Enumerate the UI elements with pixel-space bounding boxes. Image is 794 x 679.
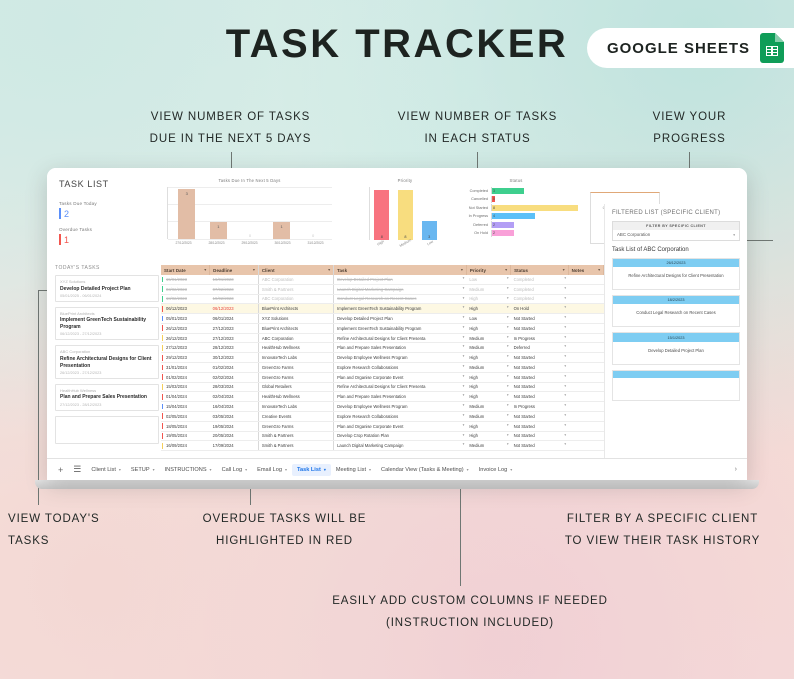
filtered-card-date: 18/2/2023 [613,296,739,304]
cell-client[interactable]: InnovateTech Labs [258,353,333,363]
callout-overdue: OVERDUE TASKS WILL BE HIGHLIGHTED IN RED [172,508,397,553]
cell-task[interactable]: Develop Crop Rotation Plan [334,431,467,441]
filtered-list-subtitle: Task List of ABC Corporation [612,247,740,253]
task-card-title: Plan and Prepare Sales Presentation [60,394,154,401]
bar: 2 [492,222,514,228]
filter-icon[interactable]: ▼ [252,268,256,272]
cell-status[interactable]: Completed [511,294,569,304]
todays-task-card[interactable]: ABC CorporationRefine Architectural Desi… [55,345,159,379]
chart-plot-area: 31010 [167,187,332,239]
filtered-task-card[interactable]: 15/1/2023Develop Detailed Project Plan [612,332,740,364]
table-header-row: Start Date▼Deadline▼Client▼Task▼Priority… [161,265,604,275]
cell-start-date[interactable]: 15/01/2023 [161,275,210,284]
cell-client[interactable]: XYZ Solutions [258,314,333,324]
table-col-status[interactable]: Status▼ [511,265,569,275]
cell-status[interactable]: Completed [511,275,569,284]
bar: 1 [273,222,290,239]
cell-start-date[interactable]: 19/05/2024 [161,431,210,441]
filtered-card-date: 26/12/2023 [613,259,739,267]
bar-value: 0 [305,233,322,238]
bar: 3 [492,188,524,194]
task-card-client: XYZ Solutions [60,279,154,284]
filtered-card-task: Conduct Legal Research on Recent Cases [613,304,739,326]
y-tick-label: Not Started [451,206,491,210]
cell-priority[interactable]: Medium [466,402,510,412]
todays-task-card-empty [55,416,159,444]
task-card-client: ABC Corporation [60,349,154,354]
cell-priority[interactable]: Medium [466,333,510,343]
cell-deadline[interactable]: 20/05/2024 [210,431,259,441]
cell-status[interactable]: Not Started [511,382,569,392]
cell-deadline[interactable]: 06/01/2024 [210,314,259,324]
cell-notes[interactable] [568,402,603,412]
spreadsheet-canvas: TASK LIST Tasks Due Today 2 Overdue Task… [47,168,747,458]
x-tick-label: 30/12/2023 [275,241,291,245]
task-card-dates: 06/12/2023 - 27/12/2023 [60,332,154,336]
bar-value: 3 [493,188,495,194]
cell-client[interactable]: HealthHub Wellness [258,392,333,402]
filtered-list-panel: FILTERED LIST (SPECIFIC CLIENT) FILTER B… [604,204,747,458]
todays-task-card[interactable]: XYZ SolutionsDevelop Detailed Project Pl… [55,275,159,302]
cell-status[interactable]: Completed [511,284,569,294]
cell-deadline[interactable]: 30/12/2023 [210,353,259,363]
cell-status[interactable]: In Progress [511,333,569,343]
table-row[interactable]: 18/02/202319/02/2023ABC CorporationCondu… [161,294,604,304]
sheet-tab-client-list[interactable]: Client List [86,464,126,476]
table-row[interactable]: 03/02/202307/02/2023Smith & PartnersLaun… [161,284,604,294]
cell-client[interactable]: ABC Corporation [258,333,333,343]
cell-priority[interactable]: High [466,294,510,304]
cell-notes[interactable] [568,372,603,382]
cell-deadline[interactable]: 01/02/2024 [210,363,259,373]
bar-value: 4 [493,213,495,219]
x-tick-label: High [376,239,384,246]
cell-notes[interactable] [568,363,603,373]
cell-deadline[interactable]: 27/12/2023 [210,333,259,343]
leader-line [38,290,39,505]
status-bar-row: In Progress4 [451,213,581,220]
cell-start-date[interactable]: 16/09/2024 [161,441,210,451]
col-label: Task [337,268,347,273]
sheet-tab-instructions[interactable]: INSTRUCTIONS [160,464,217,476]
cell-client[interactable]: ABC Corporation [258,294,333,304]
kpi-color-bar [59,208,61,219]
cell-task[interactable]: Plan and Organise Corporate Event [334,421,467,431]
bar: 2 [492,230,514,236]
filtered-card-date [613,371,739,378]
cell-start-date[interactable]: 26/12/2023 [161,323,210,333]
filtered-card-task: Develop Detailed Project Plan [613,342,739,364]
cell-start-date[interactable]: 29/12/2023 [161,353,210,363]
cell-start-date[interactable]: 26/12/2023 [161,333,210,343]
bar-value: 8 [374,235,389,239]
cell-start-date[interactable]: 03/02/2023 [161,284,210,294]
cell-notes[interactable] [568,275,603,284]
callout-todays-tasks: VIEW TODAY'S TASKS [8,508,158,553]
cell-status[interactable]: Not Started [511,314,569,324]
cell-start-date[interactable]: 01/02/2024 [161,372,210,382]
cell-start-date[interactable]: 15/04/2024 [161,402,210,412]
filtered-task-card[interactable]: 18/2/2023Conduct Legal Research on Recen… [612,295,740,327]
cell-task[interactable]: Develop Employee Wellness Program [334,402,467,412]
table-row[interactable]: 15/01/202316/01/2023ABC CorporationDevel… [161,275,604,284]
bar: 3 [178,189,195,239]
bar: 1 [210,222,227,239]
todays-task-card[interactable]: HealthHub WellnessPlan and Prepare Sales… [55,384,159,411]
filtered-list-title: FILTERED LIST (SPECIFIC CLIENT) [612,210,740,216]
cell-deadline[interactable]: 28/03/2024 [210,382,259,392]
cell-priority[interactable]: Medium [466,284,510,294]
cell-notes[interactable] [568,392,603,402]
sheet-tab-meeting-list[interactable]: Meeting List [331,464,376,476]
filtered-card-task [613,378,739,400]
plus-icon[interactable]: + [53,465,68,475]
cell-task[interactable]: Launch Digital Marketing Campaign [334,441,467,451]
cell-task[interactable]: Launch Digital Marketing Campaign [334,284,467,294]
cell-notes[interactable] [568,323,603,333]
table-col-priority[interactable]: Priority▼ [466,265,510,275]
x-tick-label: 29/12/2023 [242,241,258,245]
filter-icon[interactable]: ▼ [204,268,208,272]
cell-start-date[interactable]: 05/01/2023 [161,314,210,324]
bar-value: 8 [493,205,495,211]
google-sheets-badge: GOOGLE SHEETS [587,28,794,68]
col-label: Priority [470,268,486,273]
cell-priority[interactable]: Medium [466,343,510,353]
sheet-tab-task-list[interactable]: Task List [292,464,331,476]
status-bar-row: On Hold2 [451,230,581,237]
sheet-tab-call-log[interactable]: Call Log [217,464,253,476]
cell-start-date[interactable]: 06/12/2023 [161,304,210,314]
callout-tasks-status: VIEW NUMBER OF TASKS IN EACH STATUS [365,106,590,151]
cell-status[interactable]: Not Started [511,372,569,382]
google-sheets-label: GOOGLE SHEETS [607,40,750,57]
table-row[interactable]: 27/12/202328/12/2023HealthHub WellnessPl… [161,343,604,353]
y-tick-label: Completed [451,189,491,193]
bar-value: 3 [178,191,195,196]
col-label: Notes [572,268,585,273]
table-row[interactable]: 05/01/202306/01/2024XYZ SolutionsDevelop… [161,314,604,324]
table-row[interactable]: 16/09/202417/09/2024Smith & PartnersLaun… [161,441,604,451]
cell-priority[interactable]: Low [466,314,510,324]
chart-bars: 31010 [171,187,329,239]
bar-value: 0 [493,196,495,202]
chart-tasks-due: Tasks Due In The Next 5 Days 31010 27/12… [167,178,332,253]
kpi-label: Overdue Tasks [59,227,92,232]
kpi-color-bar [59,234,61,245]
cell-notes[interactable] [568,314,603,324]
cell-task[interactable]: Plan and Prepare Sales Presentation [334,343,467,353]
cell-task[interactable]: Conduct Legal Research on Recent Cases [334,294,467,304]
cell-notes[interactable] [568,294,603,304]
todays-task-card[interactable]: BluePrint ArchitectsImplement GreenTech … [55,307,159,341]
cell-task[interactable]: Develop Detailed Project Plan [334,275,467,284]
cell-task[interactable]: Plan and Organise Corporate Event [334,372,467,382]
cell-start-date[interactable]: 18/05/2024 [161,421,210,431]
callout-custom-columns: EASILY ADD CUSTOM COLUMNS IF NEEDED (INS… [265,590,675,635]
cell-priority[interactable]: High [466,323,510,333]
cell-priority[interactable]: High [466,382,510,392]
filtered-card-task: Refine Architectural Designs for Client … [613,267,739,289]
filter-icon[interactable]: ▼ [597,268,601,272]
table-col-client[interactable]: Client▼ [258,265,333,275]
client-filter-control[interactable]: FILTER BY SPECIFIC CLIENT ABC Corporatio… [612,221,740,241]
cell-status[interactable]: Deferred [511,343,569,353]
filter-icon[interactable]: ▼ [562,268,566,272]
cell-deadline[interactable]: 16/01/2023 [210,275,259,284]
table-row[interactable]: 31/01/202401/02/2024GreenGro FarmsExplor… [161,363,604,373]
cell-status[interactable]: Not Started [511,411,569,421]
cell-task[interactable]: Implement GreenTech Sustainability Progr… [334,323,467,333]
table-col-start-date[interactable]: Start Date▼ [161,265,210,275]
cell-priority[interactable]: High [466,304,510,314]
task-table[interactable]: Start Date▼Deadline▼Client▼Task▼Priority… [161,265,604,458]
cell-status[interactable]: Not Started [511,392,569,402]
cell-notes[interactable] [568,343,603,353]
cell-notes[interactable] [568,333,603,343]
cell-task[interactable]: Develop Detailed Project Plan [334,314,467,324]
google-sheets-icon [760,33,784,63]
table-row[interactable]: 02/05/202403/05/2024Creative EventsExplo… [161,411,604,421]
kpi-tasks-due-today: Tasks Due Today 2 [59,201,97,219]
y-tick-label: Cancelled [451,197,491,201]
cell-status[interactable]: Not Started [511,431,569,441]
cell-client[interactable]: BluePrint Architects [258,323,333,333]
cell-deadline[interactable]: 19/02/2023 [210,294,259,304]
cell-start-date[interactable]: 15/03/2024 [161,382,210,392]
x-tick-label: 31/12/2023 [308,241,324,245]
cell-client[interactable]: Global Retailers [258,382,333,392]
cell-task[interactable]: Refine Architectural Designs for Client … [334,333,467,343]
cell-task[interactable]: Implement GreenTech Sustainability Progr… [334,304,467,314]
leader-line [460,483,461,586]
bar-value: 2 [493,230,495,236]
cell-client[interactable]: GreenGro Farms [258,372,333,382]
table-row[interactable]: 29/12/202330/12/2023InnovateTech LabsDev… [161,353,604,363]
cell-deadline[interactable]: 19/05/2024 [210,421,259,431]
table-col-deadline[interactable]: Deadline▼ [210,265,259,275]
kpi-value: 1 [64,235,69,245]
sheet-tab-invoice-log[interactable]: Invoice Log [474,464,518,476]
kpi-value: 2 [64,209,69,219]
x-tick-label: Low [426,240,434,247]
table-row[interactable]: 15/03/202428/03/2024Global RetailersRefi… [161,382,604,392]
cell-priority[interactable]: High [466,421,510,431]
cell-client[interactable]: GreenGro Farms [258,363,333,373]
cell-deadline[interactable]: 03/05/2024 [210,411,259,421]
cell-priority[interactable]: Medium [466,441,510,451]
laptop-base [35,480,759,489]
cell-deadline[interactable]: 28/12/2023 [210,343,259,353]
client-filter-caption: FILTER BY SPECIFIC CLIENT [613,222,739,230]
cell-priority[interactable]: Medium [466,363,510,373]
sheet-tab-calendar-view-tasks-meeting[interactable]: Calendar View (Tasks & Meeting) [376,464,474,476]
table-row[interactable]: 26/12/202327/12/2023BluePrint Architects… [161,323,604,333]
sheet-tab-email-log[interactable]: Email Log [252,464,292,476]
table-col-notes[interactable]: Notes▼ [568,265,603,275]
callout-progress: VIEW YOUR PROGRESS [607,106,772,151]
status-bar-row: Not Started8 [451,204,581,211]
task-card-dates: 26/12/2023 - 27/12/2023 [60,371,154,375]
cell-priority[interactable]: Low [466,275,510,284]
x-tick-label: 28/12/2023 [209,241,225,245]
task-card-dates: 27/12/2023 - 28/12/2023 [60,403,154,407]
client-filter-dropdown[interactable]: ABC Corporation [613,230,739,240]
task-card-title: Implement GreenTech Sustainability Progr… [60,317,154,331]
cell-client[interactable]: Smith & Partners [258,284,333,294]
callout-filter-client: FILTER BY A SPECIFIC CLIENT TO VIEW THEI… [540,508,785,553]
table-row[interactable]: 15/04/202416/04/2024InnovateTech LabsDev… [161,402,604,412]
cell-deadline[interactable]: 07/02/2023 [210,284,259,294]
chart-title: Priority [369,178,441,183]
filtered-card-date: 15/1/2023 [613,333,739,341]
cell-priority[interactable]: High [466,392,510,402]
col-label: Client [262,268,275,273]
cell-notes[interactable] [568,304,603,314]
filtered-task-card[interactable] [612,370,740,401]
cell-status[interactable]: Not Started [511,363,569,373]
chart-status: Status Completed3Cancelled0Not Started8I… [451,178,581,253]
sheet-tab-setup[interactable]: SETUP [126,464,160,476]
cell-start-date[interactable]: 02/05/2024 [161,411,210,421]
table-col-task[interactable]: Task▼ [334,265,467,275]
table-row[interactable]: 18/05/202419/05/2024GreenGro FarmsPlan a… [161,421,604,431]
col-label: Status [514,268,528,273]
table-row[interactable]: 01/02/202402/02/2024GreenGro FarmsPlan a… [161,372,604,382]
cell-status[interactable]: Not Started [511,421,569,431]
chart-x-ticks: HighMediumLow [369,241,441,245]
status-bar-row: Completed3 [451,187,581,194]
chart-priority: Priority 883 HighMediumLow [369,178,441,253]
table-row[interactable]: 06/12/202306/12/2023BluePrint Architects… [161,304,604,314]
bar: 8 [492,205,578,211]
cell-deadline[interactable]: 16/04/2024 [210,402,259,412]
cell-priority[interactable]: Medium [466,411,510,421]
bar-value: 1 [210,224,227,229]
chart-title: Tasks Due In The Next 5 Days [167,178,332,183]
col-label: Deadline [213,268,232,273]
cell-notes[interactable] [568,411,603,421]
cell-status[interactable]: Not Started [511,441,569,451]
cell-deadline[interactable]: 06/12/2023 [210,304,259,314]
col-label: Start Date [164,268,186,273]
screen: TASK LIST Tasks Due Today 2 Overdue Task… [47,168,747,480]
filtered-task-card[interactable]: 26/12/2023Refine Architectural Designs f… [612,258,740,290]
y-tick-label: Deferred [451,223,491,227]
cell-deadline[interactable]: 02/02/2024 [210,372,259,382]
task-card-client: HealthHub Wellness [60,388,154,393]
status-bar-row: Deferred2 [451,221,581,228]
filter-icon[interactable]: ▼ [327,268,331,272]
cell-task[interactable]: Explore Research Collaborations [334,411,467,421]
laptop-mockup: TASK LIST Tasks Due Today 2 Overdue Task… [47,168,747,480]
task-card-dates: 05/01/2025 - 06/01/2024 [60,294,154,298]
cell-client[interactable]: InnovateTech Labs [258,402,333,412]
cell-start-date[interactable]: 27/12/2023 [161,343,210,353]
bar: 4 [492,213,535,219]
callout-tasks-due: VIEW NUMBER OF TASKS DUE IN THE NEXT 5 D… [118,106,343,151]
table-row[interactable]: 19/05/202420/05/2024Smith & PartnersDeve… [161,431,604,441]
todays-tasks-title: TODAY'S TASKS [55,265,159,271]
task-card-client: BluePrint Architects [60,311,154,316]
status-bar-row: Cancelled0 [451,196,581,203]
cell-client[interactable]: GreenGro Farms [258,421,333,431]
chart-title: Status [451,178,581,183]
filter-icon[interactable]: ▼ [504,268,508,272]
chart-bars: Completed3Cancelled0Not Started8In Progr… [451,187,581,237]
cell-priority[interactable]: High [466,372,510,382]
all-sheets-icon[interactable]: ☰ [68,464,86,475]
chart-x-ticks: 27/12/202328/12/202329/12/202330/12/2023… [167,241,332,245]
cell-client[interactable]: ABC Corporation [258,275,333,284]
y-tick-label: On Hold [451,231,491,235]
cell-task[interactable]: Explore Research Collaborations [334,363,467,373]
client-filter-value: ABC Corporation [617,232,650,237]
y-tick-label: In Progress [451,214,491,218]
cell-client[interactable]: Smith & Partners [258,431,333,441]
cell-deadline[interactable]: 02/04/2024 [210,392,259,402]
cell-start-date[interactable]: 18/02/2023 [161,294,210,304]
bar: 8 [398,190,413,240]
bar: 3 [422,221,437,240]
cell-start-date[interactable]: 31/01/2024 [161,363,210,373]
bar: 0 [492,196,495,202]
cell-client[interactable]: BluePrint Architects [258,304,333,314]
cell-status[interactable]: Not Started [511,353,569,363]
cell-deadline[interactable]: 27/12/2023 [210,323,259,333]
chevron-right-icon[interactable]: › [735,466,741,473]
table-row[interactable]: 01/04/202402/04/2024HealthHub WellnessPl… [161,392,604,402]
cell-notes[interactable] [568,353,603,363]
cell-notes[interactable] [568,441,603,451]
cell-status[interactable]: In Progress [511,402,569,412]
bar-value: 0 [241,233,258,238]
cell-client[interactable]: Creative Events [258,411,333,421]
section-title: TASK LIST [59,179,109,189]
kpi-label: Tasks Due Today [59,201,97,206]
cell-notes[interactable] [568,431,603,441]
cell-priority[interactable]: High [466,353,510,363]
sheet-tab-bar[interactable]: + ☰ Client ListSETUPINSTRUCTIONSCall Log… [47,458,747,480]
bar-value: 8 [398,235,413,239]
bar-value: 1 [273,224,290,229]
kpi-overdue-tasks: Overdue Tasks 1 [59,227,92,245]
cell-task[interactable]: Develop Employee Wellness Program [334,353,467,363]
cell-task[interactable]: Plan and Prepare Sales Presentation [334,392,467,402]
task-card-title: Refine Architectural Designs for Client … [60,356,154,370]
cell-task[interactable]: Refine Architectural Designs for Client … [334,382,467,392]
cell-status[interactable]: Not Started [511,323,569,333]
cell-priority[interactable]: High [466,431,510,441]
todays-tasks-panel: TODAY'S TASKS XYZ SolutionsDevelop Detai… [55,265,159,458]
cell-status[interactable]: On Hold [511,304,569,314]
bar-value: 3 [422,235,437,239]
task-card-title: Develop Detailed Project Plan [60,286,154,293]
cell-deadline[interactable]: 17/09/2024 [210,441,259,451]
filter-icon[interactable]: ▼ [460,268,464,272]
cell-notes[interactable] [568,284,603,294]
cell-client[interactable]: Smith & Partners [258,441,333,451]
table-row[interactable]: 26/12/202327/12/2023ABC CorporationRefin… [161,333,604,343]
cell-notes[interactable] [568,421,603,431]
x-tick-label: 27/12/2023 [176,241,192,245]
cell-start-date[interactable]: 01/04/2024 [161,392,210,402]
cell-client[interactable]: HealthHub Wellness [258,343,333,353]
bar-value: 2 [493,222,495,228]
bar: 8 [374,190,389,240]
chart-plot-area: 883 [369,187,441,240]
cell-notes[interactable] [568,382,603,392]
